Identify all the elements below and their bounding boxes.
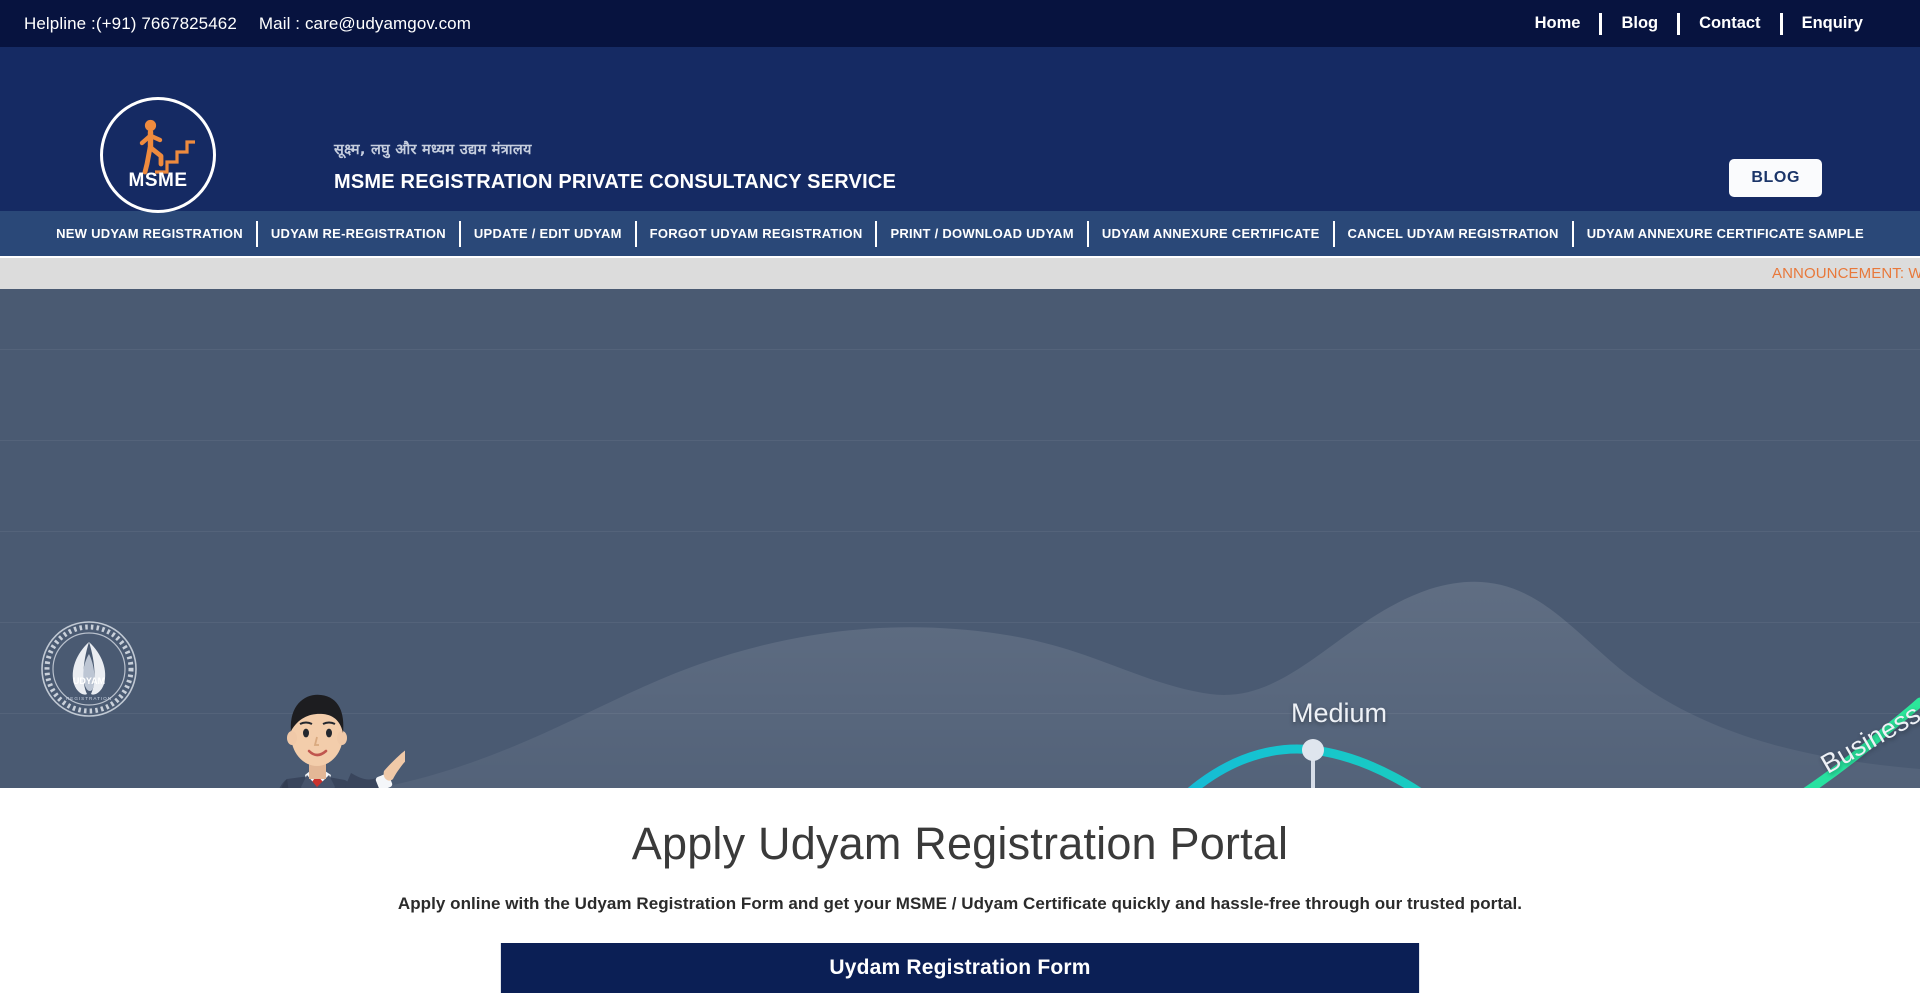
top-bar-contact: Helpline :(+91) 7667825462 Mail : care@u…: [24, 14, 471, 34]
nav-item-udyam-re-registration[interactable]: UDYAM RE-REGISTRATION: [258, 226, 459, 241]
nav-item-udyam-annexure-certificate[interactable]: UDYAM ANNEXURE CERTIFICATE: [1089, 226, 1333, 241]
nav-item-udyam-annexure-certificate-sample[interactable]: UDYAM ANNEXURE CERTIFICATE SAMPLE: [1574, 226, 1877, 241]
header-title-english: MSME REGISTRATION PRIVATE CONSULTANCY SE…: [334, 171, 896, 194]
person-climbing-stairs-icon: [125, 116, 197, 178]
header-titles: सूक्ष्म, लघु और मध्यम उद्यम मंत्रालय MSM…: [334, 139, 896, 194]
hero-hill-shape: [380, 582, 1920, 788]
logo-circle-border: MSME: [100, 97, 216, 213]
page-subtitle: Apply online with the Udyam Registration…: [0, 894, 1920, 914]
nav-item-new-udyam-registration[interactable]: NEW UDYAM REGISTRATION: [43, 226, 256, 241]
navbar-items: NEW UDYAM REGISTRATION UDYAM RE-REGISTRA…: [43, 221, 1877, 247]
page-title: Apply Udyam Registration Portal: [0, 819, 1920, 869]
form-heading: Uydam Registration Form: [501, 943, 1419, 993]
top-bar-nav: Home Blog Contact Enquiry: [1516, 13, 1882, 35]
top-bar: Helpline :(+91) 7667825462 Mail : care@u…: [0, 0, 1920, 47]
topnav-link-contact[interactable]: Contact: [1680, 14, 1779, 33]
marker-dot-medium: [1302, 739, 1324, 761]
topnav-link-enquiry[interactable]: Enquiry: [1783, 14, 1882, 33]
announcement-text: ANNOUNCEMENT: We have: [1772, 265, 1920, 282]
header-title-hindi: सूक्ष्म, लघु और मध्यम उद्यम मंत्रालय: [334, 139, 896, 159]
mail-text: Mail : care@udyamgov.com: [259, 14, 471, 34]
main-content: Apply Udyam Registration Portal Apply on…: [0, 788, 1920, 993]
msme-logo[interactable]: MSME: [100, 97, 216, 213]
blog-button[interactable]: BLOG: [1729, 159, 1822, 197]
announcement-bar: ANNOUNCEMENT: We have: [0, 256, 1920, 289]
emblem-subtitle: REGISTRATION: [66, 696, 112, 701]
logo-text: MSME: [103, 170, 213, 192]
topnav-link-home[interactable]: Home: [1516, 14, 1600, 33]
nav-item-print-download-udyam[interactable]: PRINT / DOWNLOAD UDYAM: [877, 226, 1086, 241]
registration-form-card: Uydam Registration Form NAME OF THE APPL…: [500, 943, 1420, 993]
businessman-pointing-icon: [245, 683, 405, 788]
emblem-title: UDYAM: [73, 676, 105, 686]
nav-item-update-edit-udyam[interactable]: UPDATE / EDIT UDYAM: [461, 226, 635, 241]
hero-banner: UDYAM REGISTRATION: [0, 289, 1920, 788]
udyam-registration-emblem: UDYAM REGISTRATION: [40, 620, 138, 718]
main-navbar: NEW UDYAM REGISTRATION UDYAM RE-REGISTRA…: [0, 211, 1920, 256]
topnav-link-blog[interactable]: Blog: [1602, 14, 1677, 33]
site-header: MSME सूक्ष्म, लघु और मध्यम उद्यम मंत्राल…: [0, 47, 1920, 211]
helpline-text: Helpline :(+91) 7667825462: [24, 14, 237, 34]
nav-item-cancel-udyam-registration[interactable]: CANCEL UDYAM REGISTRATION: [1335, 226, 1572, 241]
nav-item-forgot-udyam-registration[interactable]: FORGOT UDYAM REGISTRATION: [637, 226, 876, 241]
